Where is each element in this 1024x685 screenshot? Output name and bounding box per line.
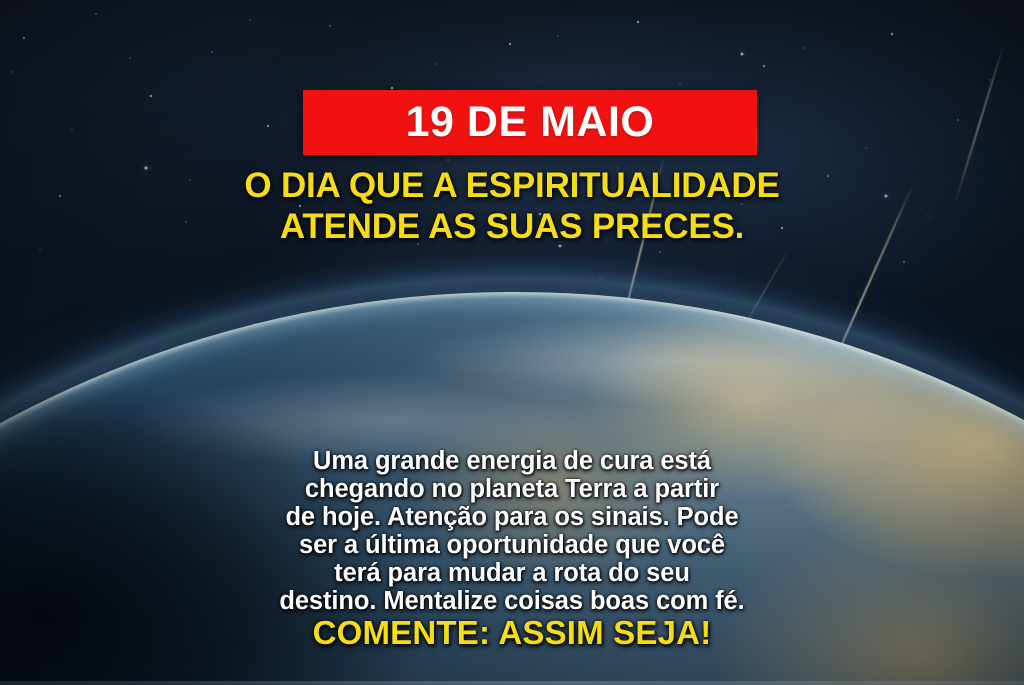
headline: O DIA QUE A ESPIRITUALIDADE ATENDE AS SU… [0, 166, 1024, 248]
body-line-5: terá para mudar a rota do seu [28, 559, 996, 587]
body-line-6: destino. Mentalize coisas boas com fé. [28, 587, 996, 615]
body-line-1: Uma grande energia de cura está [28, 447, 996, 475]
body-line-2: chegando no planeta Terra a partir [28, 475, 996, 503]
date-banner-label: 19 DE MAIO [406, 101, 655, 144]
poster-canvas: 19 DE MAIO O DIA QUE A ESPIRITUALIDADE A… [0, 0, 1024, 685]
date-banner: 19 DE MAIO [303, 90, 757, 155]
body-line-3: de hoje. Atenção para os sinais. Pode [28, 503, 996, 531]
poster-content: 19 DE MAIO O DIA QUE A ESPIRITUALIDADE A… [0, 0, 1024, 685]
headline-line-2: ATENDE AS SUAS PRECES. [40, 207, 984, 248]
call-to-action-text: COMENTE: ASSIM SEJA! [0, 616, 1024, 651]
body-line-4: ser a última oportunidade que você [28, 531, 996, 559]
body-paragraph: Uma grande energia de cura está chegando… [0, 447, 1024, 615]
headline-line-1: O DIA QUE A ESPIRITUALIDADE [40, 166, 984, 207]
